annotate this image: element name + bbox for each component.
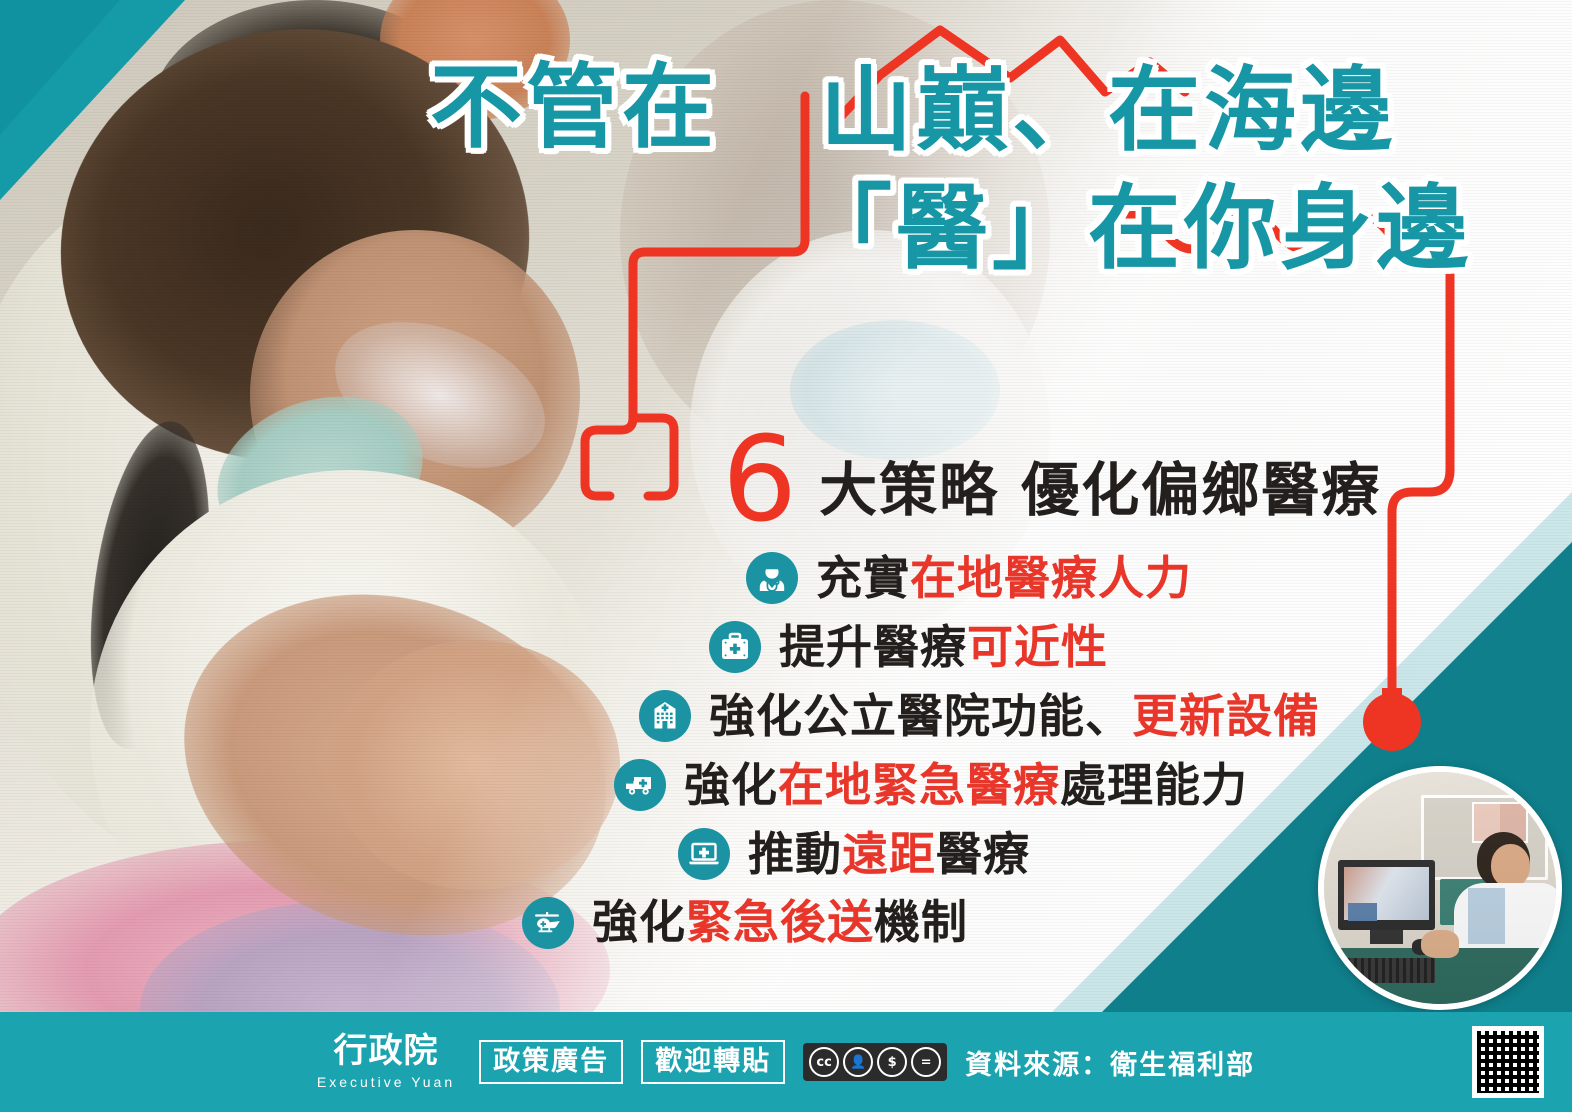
hospital-icon xyxy=(639,690,691,742)
text-plain-before: 推動 xyxy=(748,827,842,881)
headline-line2: 「醫」在你身邊 xyxy=(800,179,1472,278)
list-item: 強化緊急後送機制 xyxy=(0,896,1320,949)
cc-icon: cc xyxy=(809,1047,839,1077)
list-item: 充實在地醫療人力 xyxy=(0,552,1320,605)
strategy-label: 大策略 優化偏鄉醫療 xyxy=(819,443,1381,527)
footer-bar: 行政院 Executive Yuan 政策廣告 歡迎轉貼 cc 👤 $ = 資料… xyxy=(0,1012,1572,1112)
text-highlight: 緊急後送 xyxy=(686,895,874,949)
inset-photo-telemedicine-doctor xyxy=(1318,766,1562,1010)
doctor-icon xyxy=(746,552,798,604)
strategy-header: 6 大策略 優化偏鄉醫療 xyxy=(722,426,1381,544)
cc-by-icon: 👤 xyxy=(843,1047,873,1077)
list-item: 強化在地緊急醫療處理能力 xyxy=(0,759,1320,812)
ambulance-icon xyxy=(614,759,666,811)
headline-line1a: 不管在 xyxy=(430,58,718,157)
medical-kit-icon xyxy=(709,621,761,673)
creative-commons-badge: cc 👤 $ = xyxy=(803,1043,947,1081)
text-plain-before: 充實 xyxy=(816,551,910,605)
tag-policy-ad: 政策廣告 xyxy=(479,1040,623,1084)
cc-nd-icon: = xyxy=(911,1047,941,1077)
strategy-list: 充實在地醫療人力 提升醫療可近性 xyxy=(0,552,1320,965)
list-item-text: 充實在地醫療人力 xyxy=(816,552,1192,605)
text-plain-before: 強化 xyxy=(684,758,778,812)
headline-line1b: 山巔、在海邊 xyxy=(820,61,1396,160)
tag-welcome-repost: 歡迎轉貼 xyxy=(641,1040,785,1084)
strategy-count: 6 xyxy=(722,420,797,538)
text-plain-after: 機制 xyxy=(874,895,968,949)
text-plain-after: 處理能力 xyxy=(1060,758,1248,812)
executive-yuan-logo: 行政院 Executive Yuan xyxy=(317,1034,455,1090)
text-highlight: 在地緊急醫療 xyxy=(778,758,1060,812)
list-item-text: 提升醫療可近性 xyxy=(779,621,1108,674)
text-highlight: 可近性 xyxy=(967,620,1108,674)
executive-yuan-logo-en: Executive Yuan xyxy=(317,1074,455,1090)
text-plain-before: 提升醫療 xyxy=(779,620,967,674)
poster-root: 不管在 山巔、在海邊 「醫」在你身邊 6 大策略 優化偏鄉醫療 xyxy=(0,0,1572,1112)
qr-code[interactable] xyxy=(1472,1026,1544,1098)
list-item-text: 強化緊急後送機制 xyxy=(592,896,968,949)
corner-triangle-top-left-accent xyxy=(0,0,120,135)
text-highlight: 在地醫療人力 xyxy=(910,551,1192,605)
list-item: 提升醫療可近性 xyxy=(0,621,1320,674)
cc-nc-icon: $ xyxy=(877,1047,907,1077)
list-item: 強化公立醫院功能、更新設備 xyxy=(0,690,1320,743)
list-item-text: 強化在地緊急醫療處理能力 xyxy=(684,759,1248,812)
helicopter-icon xyxy=(522,897,574,949)
data-source-label: 資料來源：衛生福利部 xyxy=(965,1043,1255,1082)
telemedicine-icon xyxy=(678,828,730,880)
text-highlight: 遠距 xyxy=(842,827,936,881)
list-item-text: 推動遠距醫療 xyxy=(748,828,1030,881)
list-item-text: 強化公立醫院功能、更新設備 xyxy=(709,690,1320,743)
text-plain-before: 強化公立醫院功能、 xyxy=(709,689,1132,743)
text-plain-after: 醫療 xyxy=(936,827,1030,881)
text-highlight: 更新設備 xyxy=(1132,689,1320,743)
executive-yuan-logo-cn: 行政院 xyxy=(333,1034,438,1068)
poster-headline: 不管在 山巔、在海邊 「醫」在你身邊 xyxy=(430,58,1510,278)
list-item: 推動遠距醫療 xyxy=(0,828,1320,881)
text-plain-before: 強化 xyxy=(592,895,686,949)
